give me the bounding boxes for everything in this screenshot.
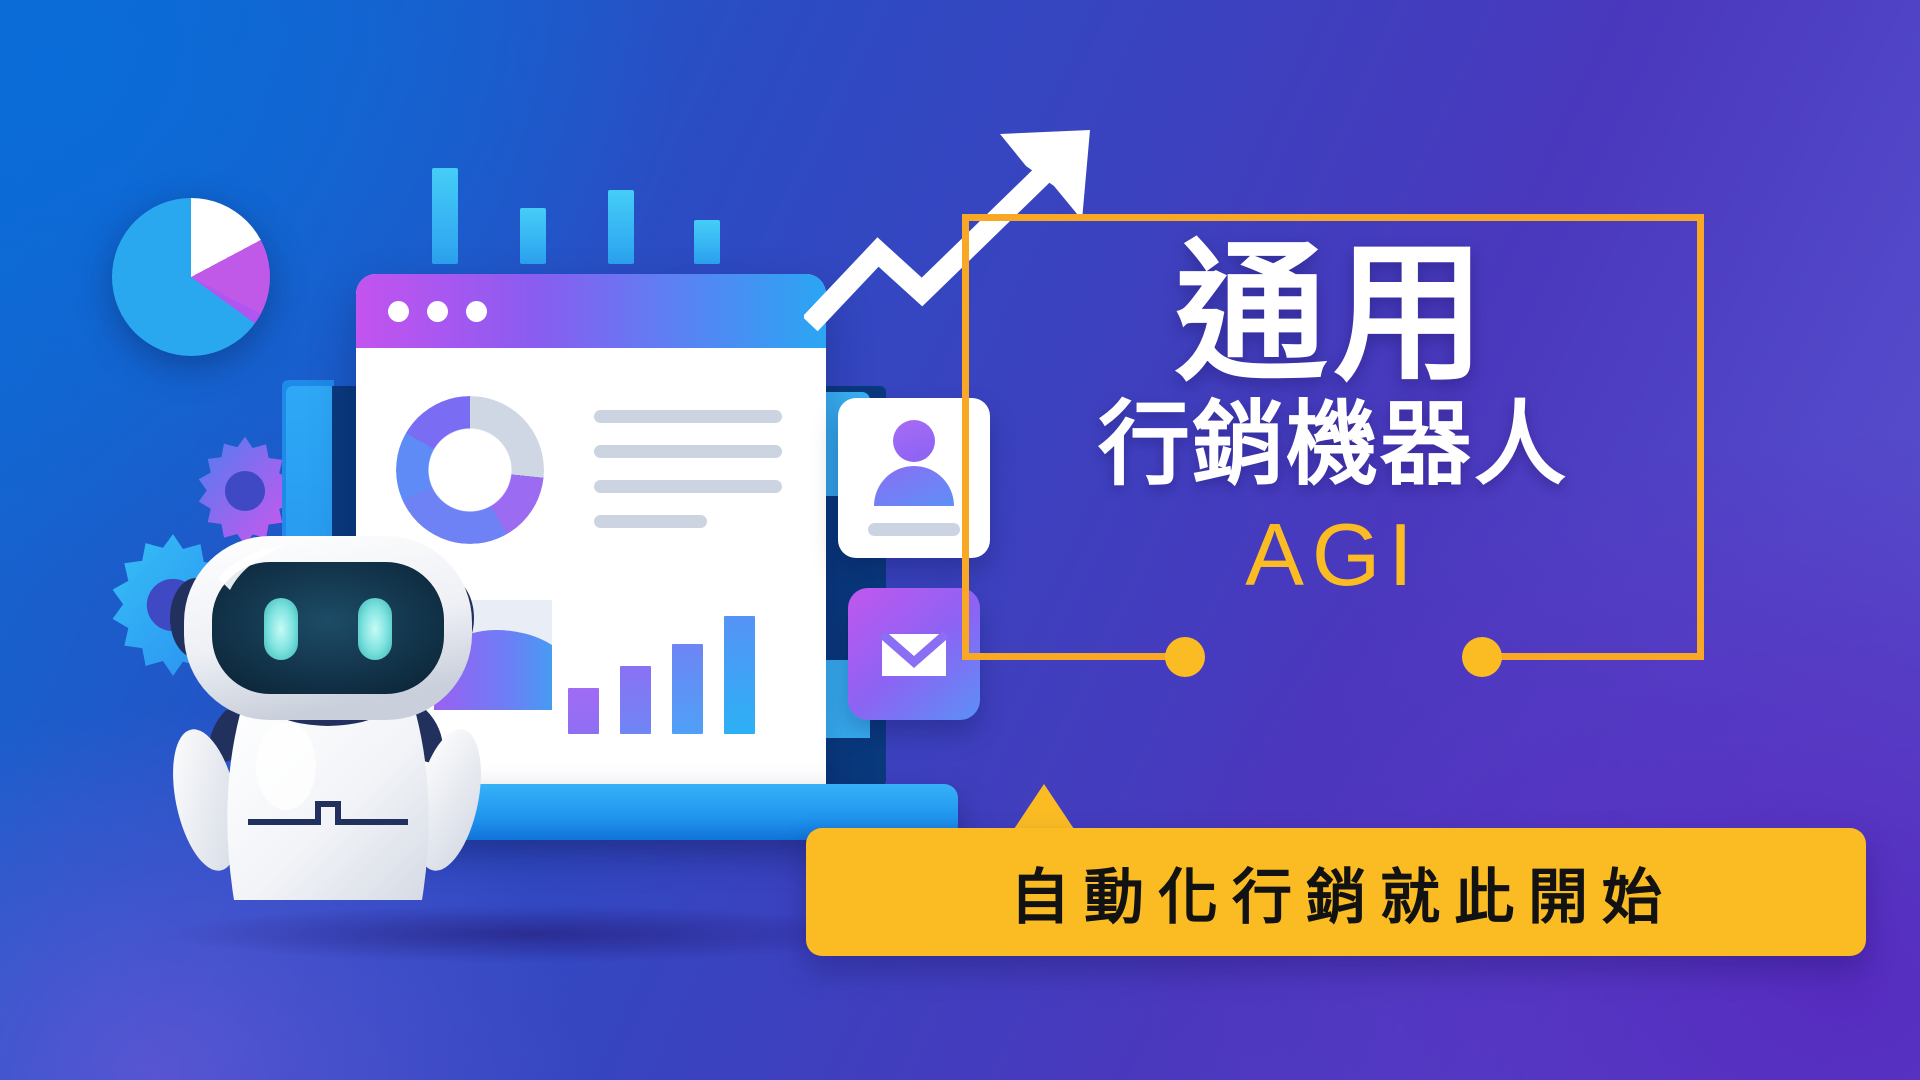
contact-name-placeholder (868, 523, 960, 536)
headline-block: 通用 行銷機器人 AGI (962, 228, 1704, 599)
dashboard-bar (724, 616, 755, 734)
window-dot-maximize (466, 301, 487, 322)
headline-subtitle: 行銷機器人 (962, 396, 1704, 495)
placeholder-line (594, 410, 782, 423)
mini-bar (694, 220, 720, 264)
window-dot-close (388, 301, 409, 322)
mini-bar (520, 208, 546, 264)
ribbon-text: 自動化行銷就此開始 (806, 828, 1866, 956)
robot-mascot (148, 500, 508, 900)
frame-border-bottom-left (962, 653, 1182, 660)
window-title-bar (356, 274, 826, 348)
text-placeholder-lines (594, 410, 782, 550)
pie-chart-disc (112, 198, 270, 356)
placeholder-line (594, 445, 782, 458)
dashboard-bar (620, 666, 651, 734)
ribbon-pointer (1012, 784, 1076, 832)
dashboard-bar (568, 688, 599, 734)
frame-border-bottom-right (1480, 653, 1704, 660)
frame-dot-right (1462, 637, 1502, 677)
mini-bar (432, 168, 458, 264)
placeholder-line (594, 515, 707, 528)
dashboard-bar (672, 644, 703, 734)
placeholder-line (594, 480, 782, 493)
ribbon-banner: 自動化行銷就此開始 (806, 828, 1866, 956)
dashboard-bar-chart (568, 574, 768, 734)
mini-bar-chart (432, 168, 732, 264)
frame-border-top (962, 214, 1704, 221)
headline-main: 通用 (962, 228, 1704, 390)
marketing-banner: 通用 行銷機器人 AGI 自動化行銷就此開始 (0, 0, 1920, 1080)
headline-acronym: AGI (962, 511, 1704, 599)
contact-avatar-body (874, 466, 954, 506)
window-dot-minimize (427, 301, 448, 322)
pie-chart (112, 198, 270, 356)
contact-avatar-head (893, 420, 935, 462)
mini-bar (608, 190, 634, 264)
frame-dot-left (1165, 637, 1205, 677)
laptop-drop-shadow (160, 905, 900, 963)
email-icon (848, 588, 980, 720)
